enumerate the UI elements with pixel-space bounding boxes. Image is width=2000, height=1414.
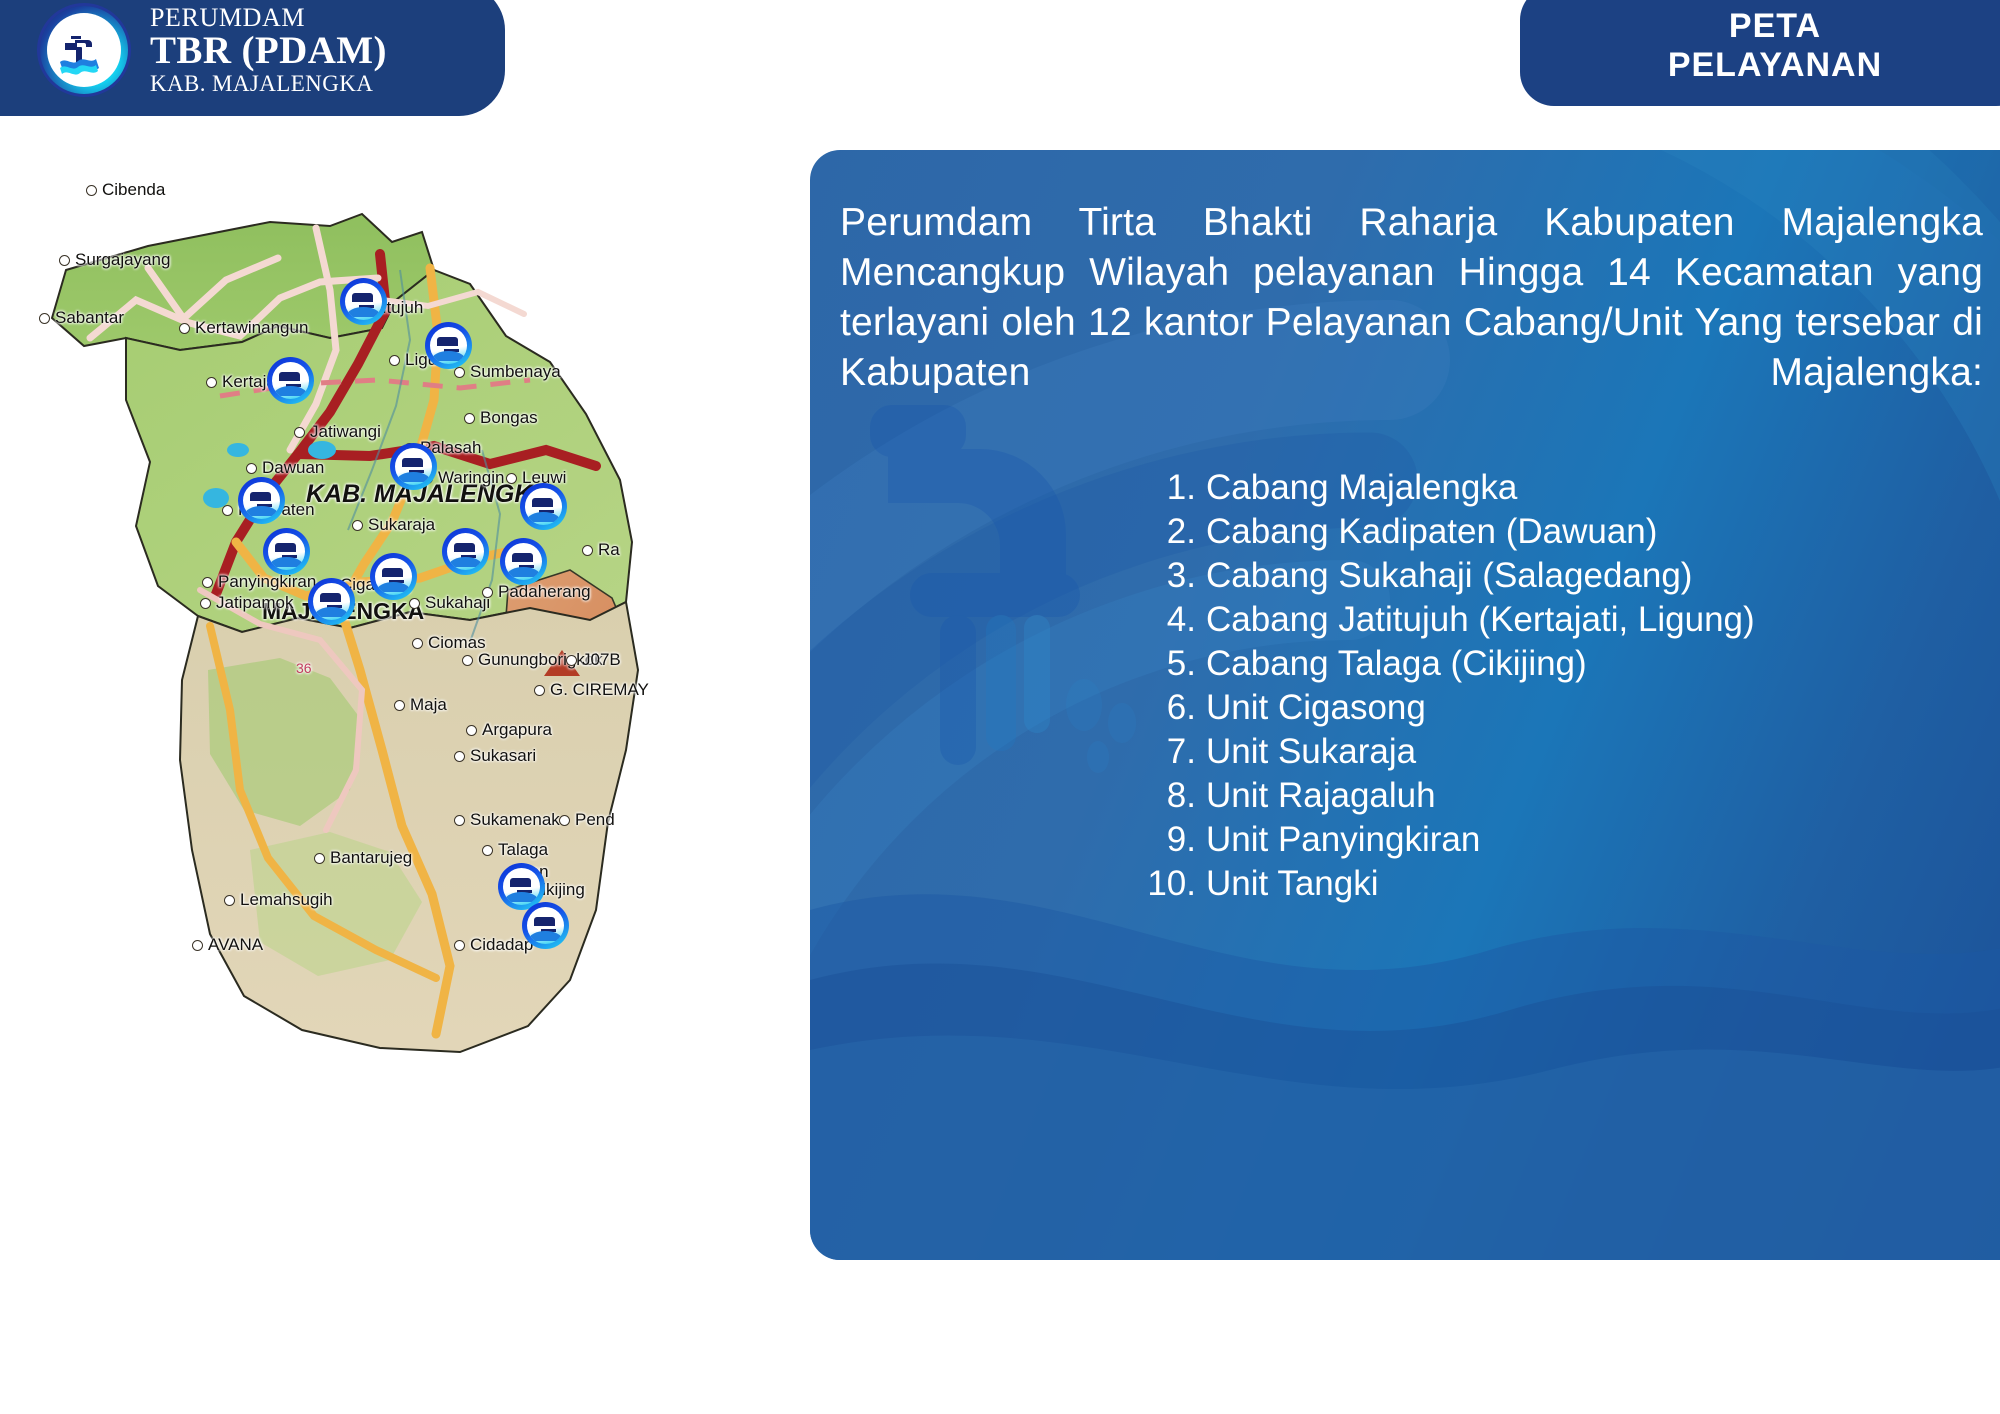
map-place-dot <box>222 505 233 516</box>
map-place-dot <box>86 185 97 196</box>
office-list-item: 1.Cabang Majalengka <box>840 466 1983 510</box>
office-number: 3. <box>1140 554 1206 598</box>
office-label: Unit Sukaraja <box>1206 730 1416 774</box>
office-list-item: 10.Unit Tangki <box>840 862 1983 906</box>
map-place-dot <box>462 655 473 666</box>
faucet-pin-icon <box>447 533 484 570</box>
office-list-item: 6.Unit Cigasong <box>840 686 1983 730</box>
faucet-pin-icon <box>345 283 382 320</box>
brand-text: PERUMDAM TBR (PDAM) KAB. MAJALENGKA <box>150 4 387 95</box>
map-place-dot <box>534 685 545 696</box>
office-number: 9. <box>1140 818 1206 862</box>
map-place-dot <box>314 853 325 864</box>
pin-rajagaluh[interactable] <box>520 483 567 530</box>
info-panel: Perumdam Tirta Bhakti Raharja Kabupaten … <box>810 150 2000 1260</box>
map-place-dot <box>179 323 190 334</box>
pin-sukaraja[interactable] <box>500 538 547 585</box>
map-place-dot <box>59 255 70 266</box>
map-place-dot <box>454 940 465 951</box>
map-place-dot <box>506 473 517 484</box>
office-list-item: 4.Cabang Jatitujuh (Kertajati, Ligung) <box>840 598 1983 642</box>
panel-intro-text: Perumdam Tirta Bhakti Raharja Kabupaten … <box>840 198 1983 448</box>
pin-cigasong[interactable] <box>370 553 417 600</box>
map-place-dot <box>582 545 593 556</box>
badge-text: PETA PELAYANAN <box>1668 7 1882 86</box>
map-place-dot <box>454 815 465 826</box>
office-label: Unit Rajagaluh <box>1206 774 1436 818</box>
pin-cikijing[interactable] <box>522 902 569 949</box>
pin-kertajati[interactable] <box>267 357 314 404</box>
office-list: 1.Cabang Majalengka2.Cabang Kadipaten (D… <box>840 466 1983 907</box>
badge-line-1: PETA <box>1668 7 1882 46</box>
office-list-item: 9.Unit Panyingkiran <box>840 818 1983 862</box>
map-place-dot <box>352 520 363 531</box>
faucet-pin-icon <box>395 448 432 485</box>
faucet-pin-icon <box>243 482 280 519</box>
map-place-dot <box>39 313 50 324</box>
faucet-pin-icon <box>272 362 309 399</box>
faucet-pin-icon <box>505 543 542 580</box>
peta-pelayanan-badge: PETA PELAYANAN <box>1520 0 2000 106</box>
brand-header: PERUMDAM TBR (PDAM) KAB. MAJALENGKA <box>0 0 505 116</box>
office-number: 1. <box>1140 466 1206 510</box>
office-label: Cabang Talaga (Cikijing) <box>1206 642 1587 686</box>
faucet-pin-icon <box>525 488 562 525</box>
pin-jatitujuh[interactable] <box>340 278 387 325</box>
map-place-dot <box>202 577 213 588</box>
office-number: 8. <box>1140 774 1206 818</box>
map-place-dot <box>192 940 203 951</box>
pin-sukahaji[interactable] <box>442 528 489 575</box>
map-place-dot <box>200 598 211 609</box>
office-label: Cabang Majalengka <box>1206 466 1517 510</box>
office-list-item: 3.Cabang Sukahaji (Salagedang) <box>840 554 1983 598</box>
office-list-item: 5.Cabang Talaga (Cikijing) <box>840 642 1983 686</box>
pin-ligung[interactable] <box>425 322 472 369</box>
pin-panyingkiran[interactable] <box>263 528 310 575</box>
office-label: Unit Panyingkiran <box>1206 818 1480 862</box>
faucet-pin-icon <box>375 558 412 595</box>
office-number: 2. <box>1140 510 1206 554</box>
office-number: 6. <box>1140 686 1206 730</box>
map-place-dot <box>559 815 570 826</box>
office-list-item: 2.Cabang Kadipaten (Dawuan) <box>840 510 1983 554</box>
map-place-dot <box>482 587 493 598</box>
brand-line-3: KAB. MAJALENGKA <box>150 72 387 96</box>
pin-palasah[interactable] <box>390 443 437 490</box>
map-region[interactable]: KAB. MAJALENGKA MAJALENGKA 36 CibendaSur… <box>30 150 830 1220</box>
map-place-dot <box>389 355 400 366</box>
office-label: Unit Tangki <box>1206 862 1379 906</box>
faucet-pin-icon <box>430 327 467 364</box>
office-label: Cabang Kadipaten (Dawuan) <box>1206 510 1657 554</box>
office-number: 10. <box>1140 862 1206 906</box>
map-place-dot <box>566 655 577 666</box>
office-list-item: 7.Unit Sukaraja <box>840 730 1983 774</box>
map-place-dot <box>224 895 235 906</box>
office-label: Unit Cigasong <box>1206 686 1426 730</box>
office-number: 5. <box>1140 642 1206 686</box>
map-place-dot <box>454 367 465 378</box>
map-place-dot <box>394 700 405 711</box>
map-place-dot <box>454 751 465 762</box>
office-number: 7. <box>1140 730 1206 774</box>
badge-line-2: PELAYANAN <box>1668 46 1882 85</box>
water-tap-logo-icon <box>40 6 128 94</box>
map-place-dot <box>409 598 420 609</box>
map-place-dot <box>294 427 305 438</box>
map-place-dot <box>464 413 475 424</box>
map-place-dot <box>206 377 217 388</box>
faucet-pin-icon <box>268 533 305 570</box>
pin-kadipaten[interactable] <box>238 477 285 524</box>
map-illustration <box>30 150 830 1220</box>
faucet-pin-icon <box>313 583 350 620</box>
brand-line-2: TBR (PDAM) <box>150 31 387 72</box>
office-label: Cabang Sukahaji (Salagedang) <box>1206 554 1692 598</box>
office-number: 4. <box>1140 598 1206 642</box>
map-place-dot <box>412 638 423 649</box>
faucet-pin-icon <box>527 907 564 944</box>
brand-line-1: PERUMDAM <box>150 4 387 31</box>
map-place-dot <box>466 725 477 736</box>
faucet-pin-icon <box>503 868 540 905</box>
map-place-dot <box>482 845 493 856</box>
office-label: Cabang Jatitujuh (Kertajati, Ligung) <box>1206 598 1755 642</box>
office-list-item: 8.Unit Rajagaluh <box>840 774 1983 818</box>
map-place-dot <box>246 463 257 474</box>
pin-majalengka[interactable] <box>308 578 355 625</box>
